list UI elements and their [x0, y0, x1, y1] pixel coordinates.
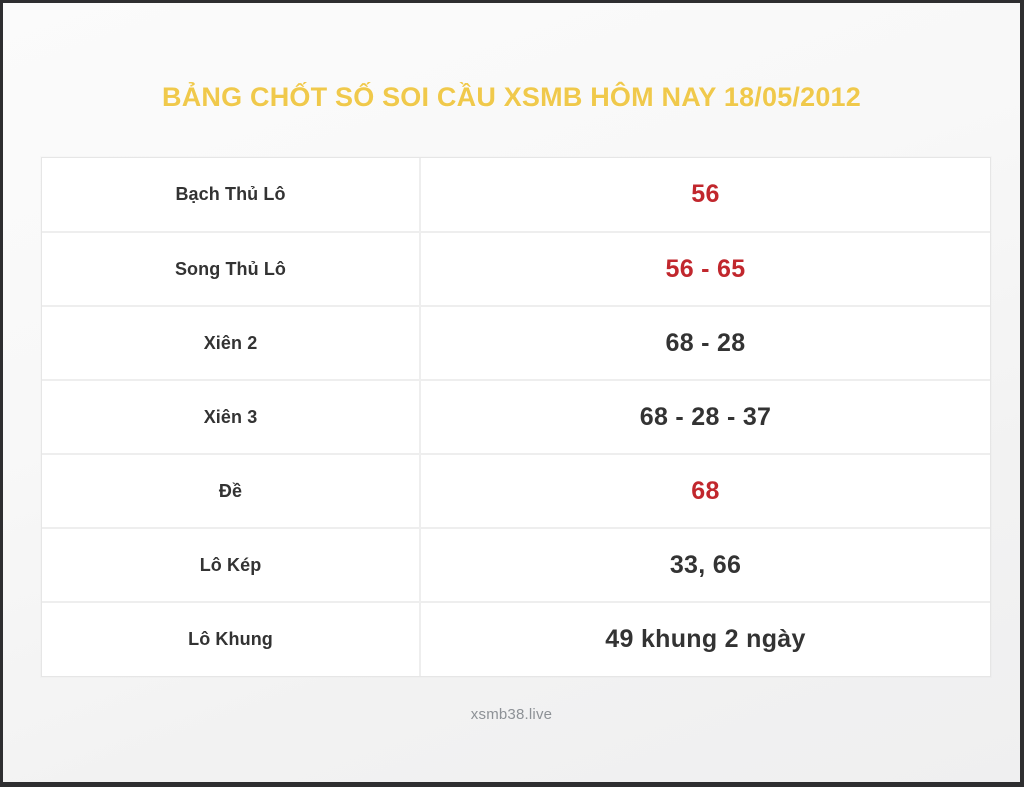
row-label: Đề: [42, 454, 420, 528]
soi-cau-table-container: Bạch Thủ Lô56Song Thủ Lô56 - 65Xiên 268 …: [41, 157, 991, 677]
row-value: 33, 66: [420, 528, 990, 602]
row-value: 49 khung 2 ngày: [420, 602, 990, 676]
row-value: 68 - 28: [420, 306, 990, 380]
table-row: Đề68: [42, 454, 990, 528]
row-label: Lô Khung: [42, 602, 420, 676]
row-label: Lô Kép: [42, 528, 420, 602]
table-row: Xiên 368 - 28 - 37: [42, 380, 990, 454]
page-title: BẢNG CHỐT SỐ SOI CẦU XSMB HÔM NAY 18/05/…: [3, 82, 1020, 113]
screenshot-frame: BẢNG CHỐT SỐ SOI CẦU XSMB HÔM NAY 18/05/…: [0, 0, 1024, 787]
row-label: Song Thủ Lô: [42, 232, 420, 306]
table-row: Xiên 268 - 28: [42, 306, 990, 380]
row-value: 56 - 65: [420, 232, 990, 306]
row-value: 68 - 28 - 37: [420, 380, 990, 454]
soi-cau-table-body: Bạch Thủ Lô56Song Thủ Lô56 - 65Xiên 268 …: [42, 158, 990, 676]
footer-site-label: xsmb38.live: [3, 706, 1020, 723]
row-label: Bạch Thủ Lô: [42, 158, 420, 232]
table-row: Bạch Thủ Lô56: [42, 158, 990, 232]
soi-cau-table: Bạch Thủ Lô56Song Thủ Lô56 - 65Xiên 268 …: [42, 158, 990, 676]
table-row: Lô Khung49 khung 2 ngày: [42, 602, 990, 676]
row-value: 68: [420, 454, 990, 528]
table-row: Lô Kép33, 66: [42, 528, 990, 602]
row-value: 56: [420, 158, 990, 232]
table-row: Song Thủ Lô56 - 65: [42, 232, 990, 306]
row-label: Xiên 2: [42, 306, 420, 380]
row-label: Xiên 3: [42, 380, 420, 454]
